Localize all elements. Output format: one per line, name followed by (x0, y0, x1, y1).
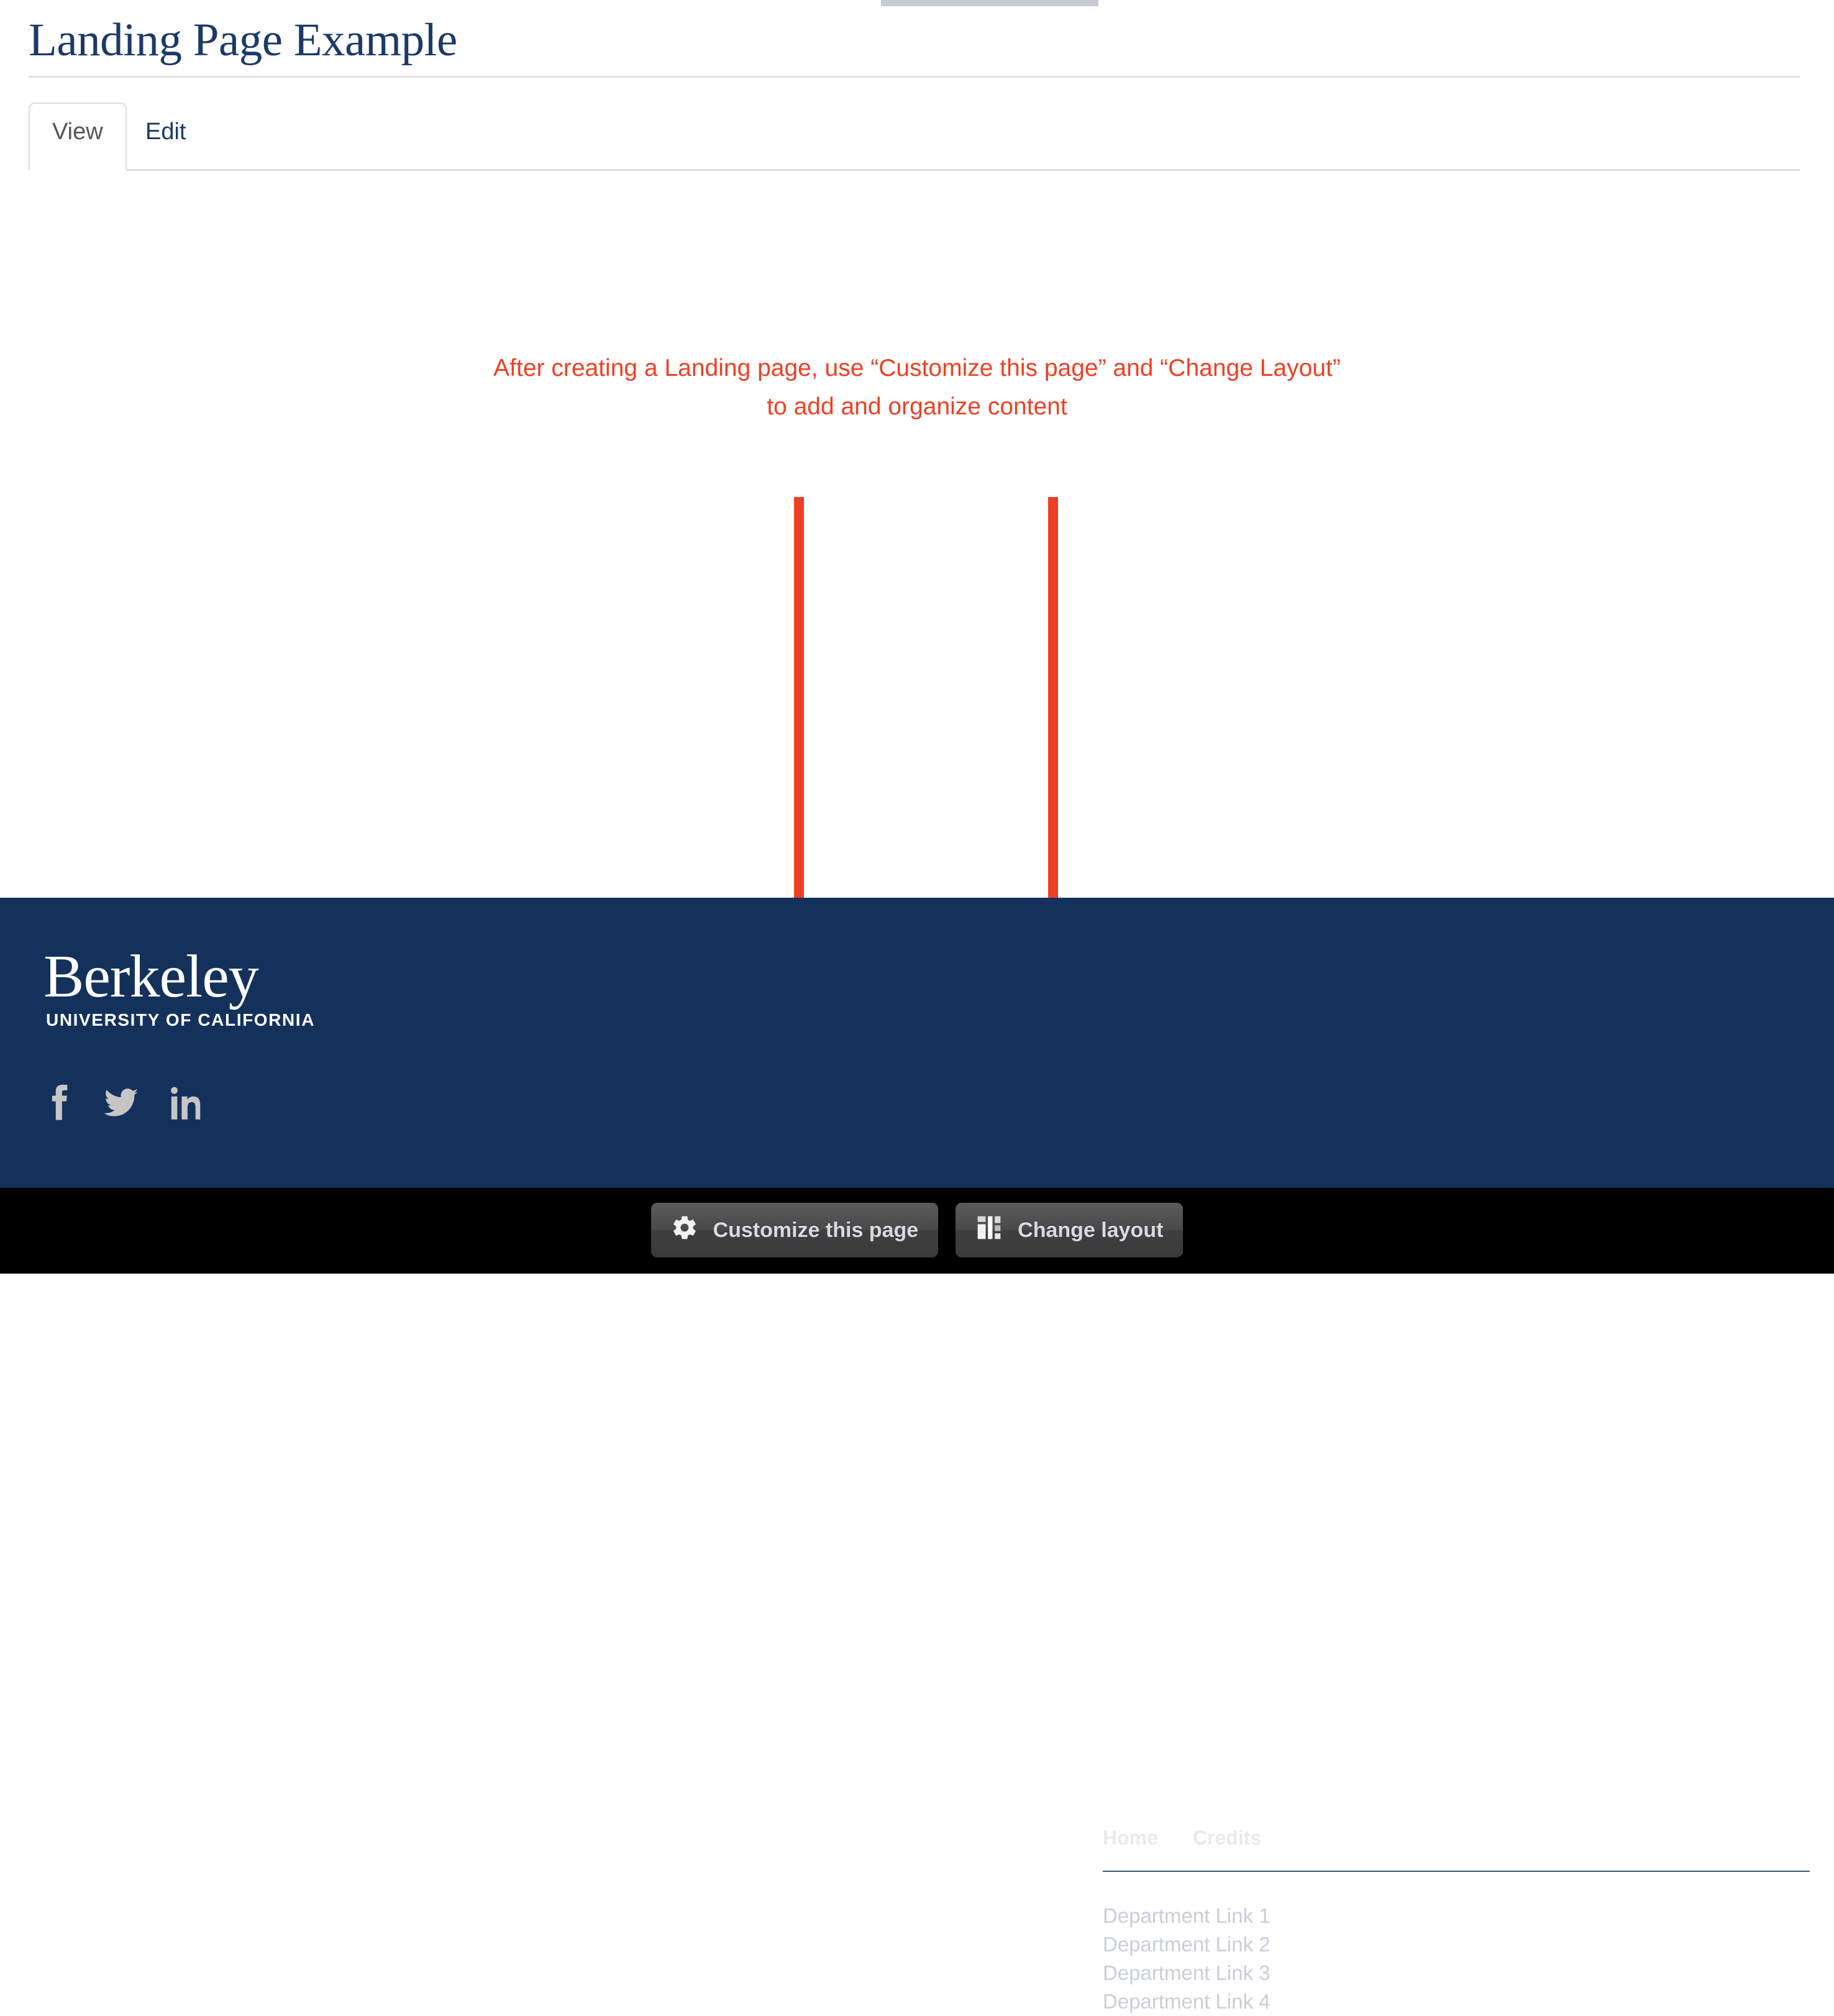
berkeley-logo-subtitle: UNIVERSITY OF CALIFORNIA (46, 1010, 342, 1030)
annotation-text: After creating a Landing page, use “Cust… (0, 349, 1834, 426)
admin-toolbar-buttons: Customize this page Change layout (0, 1203, 1834, 1257)
footer-nav-credits[interactable]: Credits (1193, 1827, 1261, 1850)
berkeley-wordmark: Berkeley (43, 944, 342, 1009)
site-footer: Berkeley UNIVERSITY OF CALIFORNIA Home C… (0, 898, 1834, 1188)
admin-toolbar: Customize this page Change layout (0, 1188, 1834, 1274)
tab-edit[interactable]: Edit (122, 103, 209, 171)
tab-bar-underline (29, 169, 1800, 171)
annotation-line-1: After creating a Landing page, use “Cust… (0, 349, 1834, 388)
page-header: Landing Page Example (29, 14, 1800, 78)
customize-this-page-button[interactable]: Customize this page (651, 1203, 939, 1257)
linkedin-icon[interactable] (170, 1083, 203, 1121)
title-divider (29, 76, 1800, 78)
change-layout-label: Change layout (1018, 1218, 1163, 1243)
tab-bar: View Edit (29, 103, 1800, 171)
layout-icon (975, 1214, 1003, 1247)
change-layout-button[interactable]: Change layout (956, 1203, 1183, 1257)
twitter-icon[interactable] (103, 1083, 139, 1121)
list-item[interactable]: Department Link 4 (1103, 1987, 1799, 2016)
footer-nav-home[interactable]: Home (1103, 1827, 1158, 1850)
list-item[interactable]: Department Link 2 (1103, 1930, 1799, 1959)
footer-link-column: Home Credits Department Link 1 Departmen… (1103, 1827, 1799, 2016)
list-item[interactable]: Department Link 3 (1103, 1959, 1799, 1987)
page-title: Landing Page Example (29, 14, 1800, 76)
footer-nav: Home Credits (1103, 1827, 1799, 1850)
customize-this-page-label: Customize this page (713, 1218, 919, 1243)
list-item[interactable]: Department Link 1 (1103, 1902, 1799, 1930)
tab-view[interactable]: View (29, 103, 127, 171)
browser-chrome-strip (881, 0, 1098, 6)
gear-icon (671, 1214, 698, 1247)
social-links (43, 1083, 203, 1121)
department-link-list: Department Link 1 Department Link 2 Depa… (1103, 1902, 1799, 2016)
berkeley-logo[interactable]: Berkeley UNIVERSITY OF CALIFORNIA (43, 944, 342, 1030)
facebook-icon[interactable] (43, 1083, 72, 1121)
annotation-line-2: to add and organize content (0, 388, 1834, 426)
footer-divider (1103, 1871, 1810, 1872)
